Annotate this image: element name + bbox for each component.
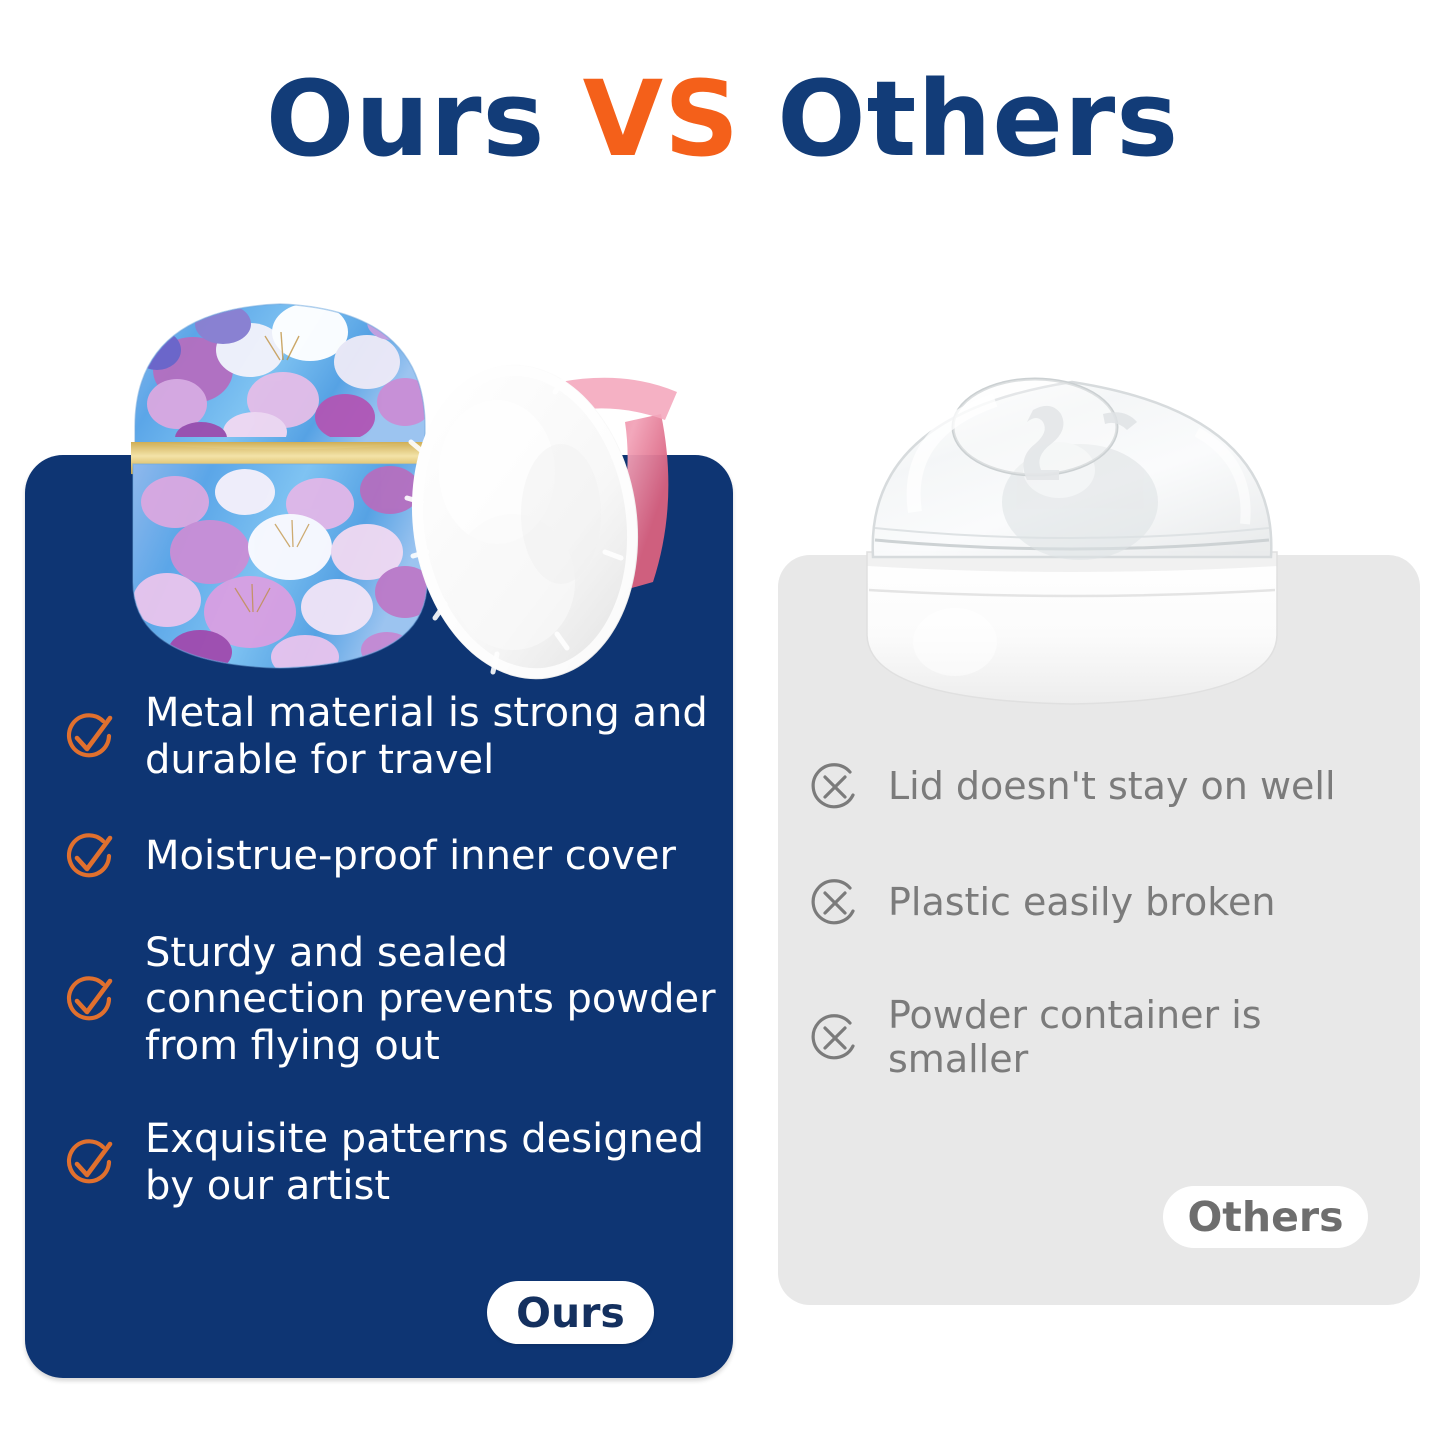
others-product-image [845, 352, 1300, 727]
list-item: Powder container is smaller [778, 994, 1420, 1081]
x-circle-icon [810, 878, 860, 928]
drawback-text: Powder container is smaller [888, 994, 1412, 1081]
ours-badge: Ours [487, 1281, 654, 1344]
list-item: Metal material is strong and durable for… [25, 690, 733, 784]
feature-text: Exquisite patterns designed by our artis… [145, 1116, 723, 1210]
title-others-text: Others [740, 58, 1179, 180]
check-circle-icon [63, 1136, 117, 1190]
others-badge: Others [1163, 1186, 1368, 1248]
others-drawback-list: Lid doesn't stay on well Plastic easily … [778, 762, 1420, 1081]
ours-feature-list: Metal material is strong and durable for… [25, 690, 733, 1210]
ours-product-image [105, 252, 725, 692]
page-title: Ours VS Others [0, 62, 1445, 176]
title-ours-text: Ours [266, 58, 583, 180]
list-item: Sturdy and sealed connection prevents po… [25, 930, 733, 1070]
title-vs-text: VS [583, 58, 740, 180]
feature-text: Sturdy and sealed connection prevents po… [145, 930, 723, 1070]
list-item: Plastic easily broken [778, 878, 1420, 928]
drawback-text: Plastic easily broken [888, 881, 1275, 925]
check-circle-icon [63, 830, 117, 884]
x-circle-icon [810, 1013, 860, 1063]
list-item: Lid doesn't stay on well [778, 762, 1420, 812]
feature-text: Metal material is strong and durable for… [145, 690, 723, 784]
drawback-text: Lid doesn't stay on well [888, 765, 1336, 809]
feature-text: Moistrue-proof inner cover [145, 833, 676, 880]
check-circle-icon [63, 710, 117, 764]
list-item: Moistrue-proof inner cover [25, 830, 733, 884]
check-circle-icon [63, 973, 117, 1027]
list-item: Exquisite patterns designed by our artis… [25, 1116, 733, 1210]
x-circle-icon [810, 762, 860, 812]
